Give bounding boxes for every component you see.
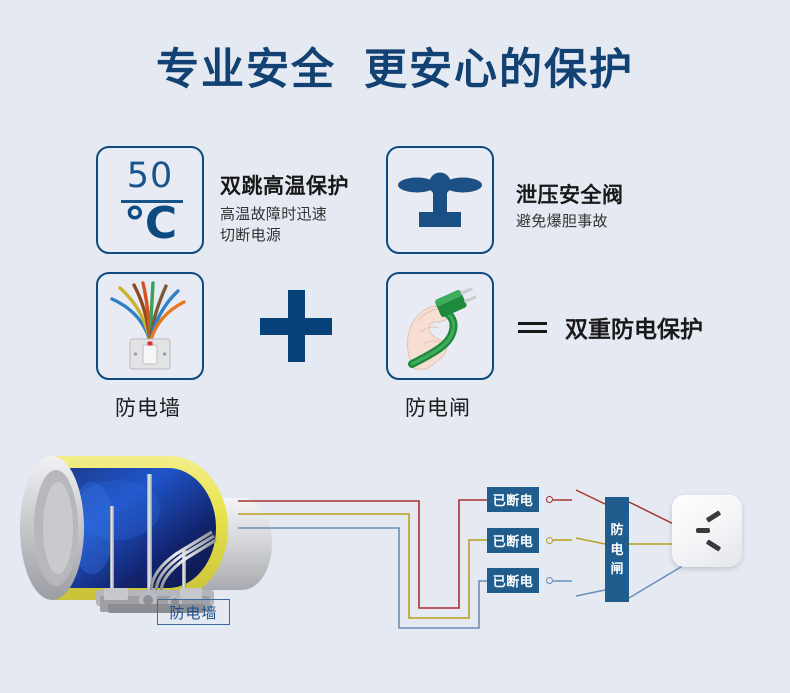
formula-result-text: 双重防电保护 — [565, 310, 703, 344]
plus-sign-icon — [260, 290, 332, 362]
status-badge-power-cut-3: 已断电 — [487, 568, 539, 593]
wall-socket-icon — [672, 495, 742, 567]
socket-slot-bottom — [706, 539, 721, 551]
valve-icon-box — [386, 146, 494, 254]
temperature-50c-icon: 50 °C — [98, 148, 202, 252]
feature-subtitle-valve: 避免爆胆事故 — [516, 211, 608, 232]
wiring-diagram: 防电墙 — [0, 440, 790, 693]
feature-title-temp: 双跳高温保护 — [220, 170, 349, 200]
caption-anti-electric-wall: 防电墙 — [115, 392, 181, 422]
formula-result-row: 双重防电保护 — [518, 310, 703, 344]
caption-anti-electric-breaker: 防电闸 — [405, 392, 471, 422]
page-title: 专业安全 更安心的保护 — [0, 46, 790, 95]
pressure-relief-valve-icon — [388, 148, 492, 252]
status-badge-power-cut-2: 已断电 — [487, 528, 539, 553]
temperature-icon-box: 50 °C — [96, 146, 204, 254]
breaker-char-2: 电 — [610, 540, 623, 560]
wires-wall-socket-icon — [98, 274, 202, 378]
hand-holding-green-plug-icon — [388, 274, 492, 378]
breaker-label-box: 防 电 闸 — [605, 497, 629, 602]
anti-electric-breaker-icon-box — [386, 272, 494, 380]
feature-title-valve: 泄压安全阀 — [516, 179, 624, 209]
wire-routing — [0, 440, 790, 693]
socket-slot-top — [706, 510, 721, 522]
promo-page: 专业安全 更安心的保护 50 °C 双跳高温保护 高温故障时迅速 切断电源 泄压… — [0, 0, 790, 693]
equals-sign-icon — [518, 319, 547, 335]
terminal-dot-2 — [546, 537, 553, 544]
temperature-value: 50 — [98, 159, 202, 194]
temperature-unit: °C — [98, 201, 202, 247]
breaker-char-1: 防 — [610, 520, 623, 540]
feature-subtitle-temp: 高温故障时迅速 切断电源 — [220, 204, 327, 247]
terminal-dot-1 — [546, 496, 553, 503]
terminal-dot-3 — [546, 577, 553, 584]
breaker-char-3: 闸 — [610, 559, 623, 579]
status-badge-power-cut-1: 已断电 — [487, 487, 539, 512]
socket-slot-center — [696, 528, 710, 533]
anti-electric-wall-icon-box — [96, 272, 204, 380]
